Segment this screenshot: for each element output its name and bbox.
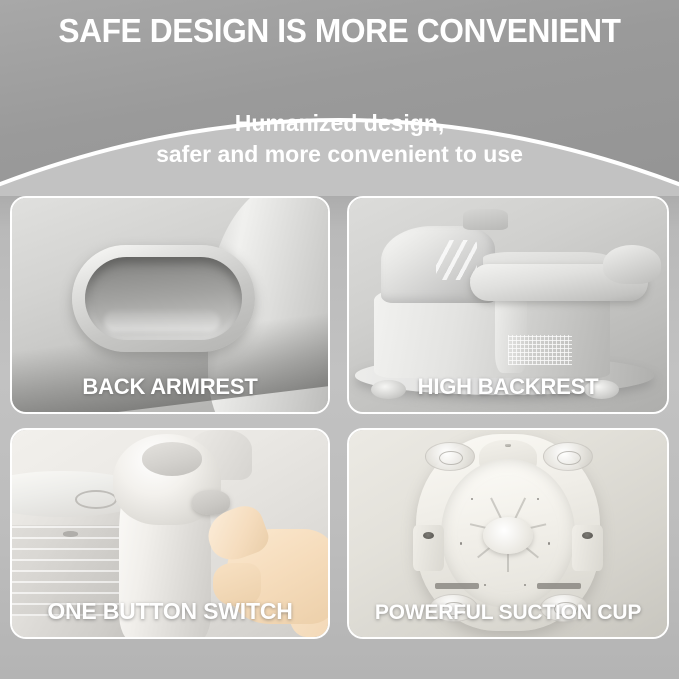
- suction-cup-inner-ring: [557, 451, 581, 465]
- underside-right-bracket: [572, 525, 604, 571]
- armrest-grip-highlight: [104, 310, 221, 332]
- underside-dot: [484, 584, 486, 586]
- underside-top-clip: [505, 444, 511, 447]
- underside-dot: [537, 498, 539, 500]
- underside-dot: [548, 542, 550, 544]
- suction-cup-top-right: [543, 442, 593, 471]
- seat-bowl-drain-hole: [63, 531, 79, 536]
- subtitle-line-2: safer and more convenient to use: [0, 139, 679, 170]
- underside-vent-left: [435, 583, 480, 588]
- armrest-grip-outer-ring: [72, 245, 255, 352]
- panel-caption-one-button-switch: ONE BUTTON SWITCH: [12, 598, 328, 625]
- panel-high-backrest[interactable]: HIGH BACKREST: [347, 196, 669, 414]
- underside-dot: [524, 584, 526, 586]
- panel-back-armrest[interactable]: BACK ARMREST: [10, 196, 330, 414]
- seat-right-pivot-knob: [603, 245, 660, 284]
- feature-panel-grid: BACK ARMREST HIGH BACKREST: [10, 196, 669, 643]
- panel-powerful-suction-cup[interactable]: POWERFUL SUCTION CUP: [347, 428, 669, 639]
- underside-screw-right: [582, 532, 593, 539]
- backrest-top-knob: [463, 209, 508, 230]
- underside-vent-right: [537, 583, 582, 588]
- subtitle-line-1: Humanized design,: [235, 110, 445, 136]
- underside-left-bracket: [413, 525, 445, 571]
- pivot-top-cap: [142, 442, 202, 475]
- panel-caption-back-armrest: BACK ARMREST: [12, 374, 328, 400]
- page-subtitle: Humanized design, safer and more conveni…: [0, 108, 679, 169]
- seat-drain-mesh: [508, 335, 572, 365]
- page-title: SAFE DESIGN IS MORE CONVENIENT: [14, 14, 666, 47]
- underside-dot: [471, 498, 473, 500]
- underside-dot: [460, 542, 462, 544]
- panel-one-button-switch[interactable]: ONE BUTTON SWITCH: [10, 428, 330, 639]
- panel-caption-powerful-suction-cup: POWERFUL SUCTION CUP: [349, 601, 667, 625]
- underside-screw-left: [423, 532, 434, 539]
- seat-bowl-oval-mark: [75, 490, 117, 508]
- suction-cup-inner-ring: [439, 451, 463, 465]
- armrest-grip-recess: [85, 257, 243, 340]
- product-infographic: SAFE DESIGN IS MORE CONVENIENT Humanized…: [0, 0, 679, 679]
- header-band: SAFE DESIGN IS MORE CONVENIENT Humanized…: [0, 0, 679, 196]
- panel-caption-high-backrest: HIGH BACKREST: [349, 374, 667, 400]
